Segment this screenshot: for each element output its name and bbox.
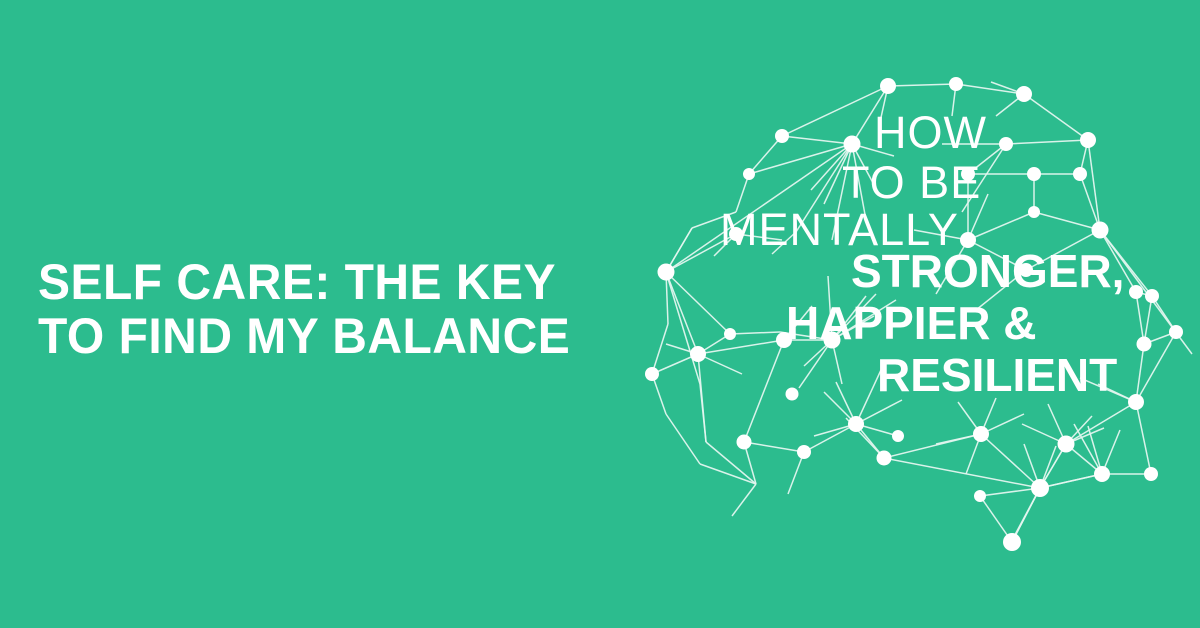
headline-line-2: TO FIND MY BALANCE: [38, 309, 624, 363]
headline-line-1: SELF CARE: THE KEY: [38, 255, 624, 309]
network-brain-illustration: [636, 44, 1200, 584]
banner-canvas: SELF CARE: THE KEY TO FIND MY BALANCE: [0, 0, 1200, 628]
brain-edges: [652, 82, 1192, 544]
brain-nodes: [645, 77, 1183, 551]
brain-network-svg: [636, 44, 1200, 584]
page-title: SELF CARE: THE KEY TO FIND MY BALANCE: [38, 255, 624, 363]
